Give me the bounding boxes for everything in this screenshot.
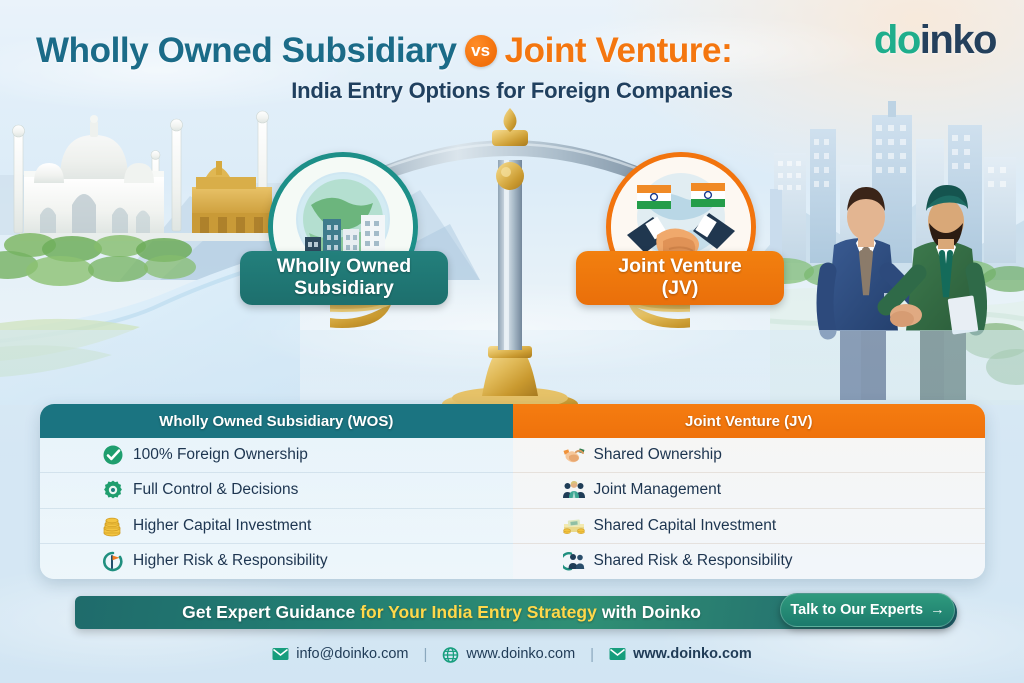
cta-text-part1: Get Expert Guidance — [182, 602, 355, 623]
table-row: Full Control & Decisions — [40, 473, 513, 508]
cta-text-part2: with Doinko — [602, 602, 701, 623]
table-row: Joint Management — [513, 473, 986, 508]
envelope-icon — [609, 647, 626, 661]
header: Wholly Owned Subsidiary vs Joint Venture… — [0, 0, 1024, 110]
comparison-table: Wholly Owned Subsidiary (WOS) Joint Vent… — [40, 404, 985, 579]
wos-badge-line2: Subsidiary — [294, 277, 394, 299]
jv-badge-line2: (JV) — [662, 277, 699, 299]
column-wos: 100% Foreign Ownership Full Control & De… — [40, 438, 513, 579]
footer-separator: | — [423, 646, 427, 663]
doinko-logo[interactable]: doinko — [874, 18, 996, 63]
jv-badge-line1: Joint Venture — [618, 255, 742, 277]
check-circle-icon — [102, 444, 124, 466]
table-row: 100% Foreign Ownership — [40, 438, 513, 473]
title-wos-text: Wholly Owned Subsidiary — [36, 31, 457, 71]
footer-label: info@doinko.com — [296, 646, 408, 662]
envelope-icon — [272, 647, 289, 661]
cta-section: Get Expert Guidance for Your India Entry… — [75, 596, 957, 629]
footer-separator: | — [590, 646, 594, 663]
shared-risk-people-icon — [563, 550, 585, 572]
people-group-icon — [563, 479, 585, 501]
table-row: Shared Ownership — [513, 438, 986, 473]
vs-badge: vs — [465, 35, 497, 67]
comparison-table-body: 100% Foreign Ownership Full Control & De… — [40, 438, 985, 579]
column-jv: Shared Ownership Joint Management — [513, 438, 986, 579]
globe-icon — [442, 647, 459, 661]
table-row: Shared Capital Investment — [513, 509, 986, 544]
footer-item-website-bold[interactable]: www.doinko.com — [609, 646, 752, 662]
footer-contact-bar: info@doinko.com | www.doinko.com | www.d… — [0, 637, 1024, 671]
arrow-right-icon: → — [930, 602, 945, 618]
talk-to-experts-button[interactable]: Talk to Our Experts → — [780, 593, 955, 627]
wos-badge: Wholly Owned Subsidiary — [240, 251, 448, 305]
footer-label: www.doinko.com — [633, 646, 752, 662]
column-header-wos: Wholly Owned Subsidiary (WOS) — [40, 404, 513, 438]
risk-gauge-icon — [102, 550, 124, 572]
cta-text-highlight: for Your India Entry Strategy — [360, 602, 597, 623]
logo-inko-text: inko — [920, 18, 996, 62]
row-label: Shared Capital Investment — [594, 517, 777, 535]
cta-button-label: Talk to Our Experts — [790, 602, 923, 618]
footer-item-website[interactable]: www.doinko.com — [442, 646, 575, 662]
row-label: Higher Capital Investment — [133, 517, 311, 535]
table-row: Higher Capital Investment — [40, 509, 513, 544]
comparison-table-header: Wholly Owned Subsidiary (WOS) Joint Vent… — [40, 404, 985, 438]
row-label: 100% Foreign Ownership — [133, 446, 308, 464]
gear-icon — [102, 479, 124, 501]
page-subtitle: India Entry Options for Foreign Companie… — [0, 78, 1024, 104]
handshake-icon — [563, 444, 585, 466]
wos-badge-line1: Wholly Owned — [277, 255, 411, 277]
jv-badge: Joint Venture (JV) — [576, 251, 784, 305]
title-jv-text: Joint Venture: — [505, 31, 733, 71]
row-label: Shared Risk & Responsibility — [594, 552, 793, 570]
table-row: Higher Risk & Responsibility — [40, 544, 513, 579]
row-label: Full Control & Decisions — [133, 481, 298, 499]
footer-item-email[interactable]: info@doinko.com — [272, 646, 408, 662]
cta-text: Get Expert Guidance for Your India Entry… — [75, 596, 715, 629]
row-label: Shared Ownership — [594, 446, 722, 464]
page-title: Wholly Owned Subsidiary vs Joint Venture… — [36, 26, 826, 76]
footer-label: www.doinko.com — [466, 646, 575, 662]
money-bundle-icon — [563, 515, 585, 537]
row-label: Higher Risk & Responsibility — [133, 552, 328, 570]
coin-stack-icon — [102, 515, 124, 537]
logo-do-text: do — [874, 18, 920, 62]
table-row: Shared Risk & Responsibility — [513, 544, 986, 579]
row-label: Joint Management — [594, 481, 722, 499]
column-header-jv: Joint Venture (JV) — [513, 404, 986, 438]
